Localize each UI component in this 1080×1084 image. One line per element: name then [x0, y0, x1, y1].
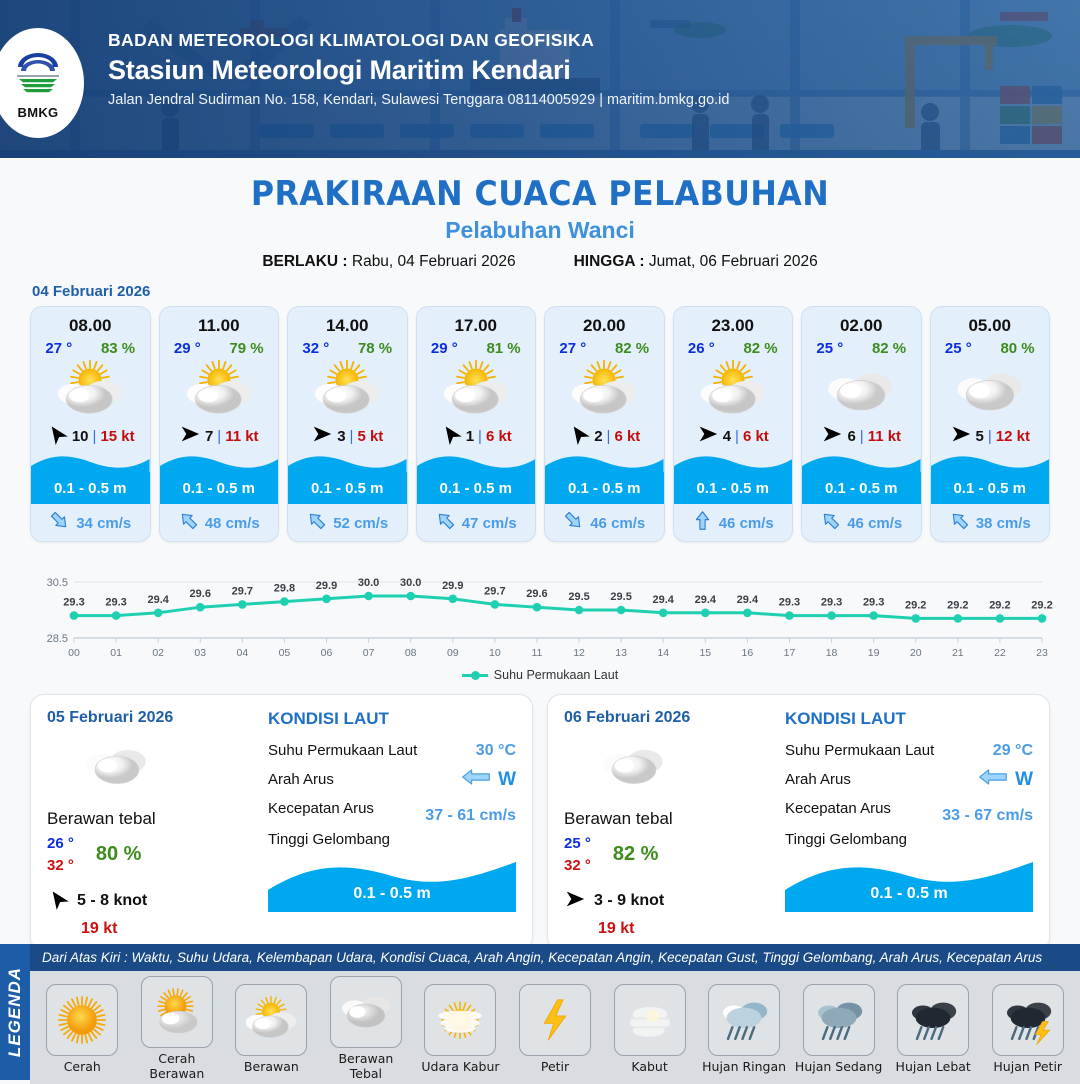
berlaku-value: Rabu, 04 Februari 2026 [352, 253, 516, 270]
daily-humidity: 80 % [96, 843, 142, 866]
current-direction-value: W [498, 769, 516, 791]
current-direction-arrow-icon [563, 510, 584, 536]
wind-direction-arrow-icon [179, 423, 201, 449]
card-wave: 0.1 - 0.5 m [931, 453, 1050, 505]
daily-gust: 19 kt [81, 920, 262, 938]
card-current-speed: 46 cm/s [590, 515, 645, 532]
card-wind-speed: 7 [205, 428, 213, 445]
legend-item: Hujan Ringan [700, 984, 789, 1074]
daily-date: 05 Februari 2026 [47, 709, 262, 727]
wind-separator: | [860, 428, 864, 445]
legend-item-label: Berawan [244, 1059, 299, 1074]
sun-behind-cloud-icon [437, 359, 515, 421]
sun-behind-small-cloud-icon [141, 976, 213, 1048]
daily-humidity: 82 % [613, 843, 659, 866]
card-gust: 11 kt [225, 428, 258, 445]
svg-text:04: 04 [237, 647, 249, 659]
current-speed-value: 37 - 61 cm/s [425, 807, 516, 824]
svg-text:29.2: 29.2 [1031, 599, 1052, 611]
legend-item-label: Cerah Berawan [133, 1051, 222, 1081]
svg-text:08: 08 [405, 647, 417, 659]
wind-direction-arrow-icon [46, 423, 68, 449]
hingga-label: HINGGA : [574, 253, 645, 270]
legend-item-label: Berawan Tebal [322, 1051, 411, 1081]
card-temperature: 25 ° [816, 340, 843, 357]
wind-direction-arrow-icon [568, 423, 590, 449]
legend-item-label: Cerah [64, 1059, 101, 1074]
card-current: 34 cm/s [49, 505, 131, 541]
svg-text:28.5: 28.5 [47, 633, 68, 645]
card-gust: 6 kt [614, 428, 640, 445]
wave-height-value: 0.1 - 0.5 m [785, 885, 1033, 903]
sst-label: Suhu Permukaan Laut [785, 742, 934, 759]
card-current-speed: 52 cm/s [333, 515, 388, 532]
svg-text:29.6: 29.6 [190, 588, 211, 600]
hourly-forecast-row: 08.00 27 ° 83 % 10 | 15 kt [0, 306, 1080, 542]
wind-separator: | [988, 428, 992, 445]
wind-direction-arrow-icon [821, 423, 843, 449]
svg-text:30.0: 30.0 [400, 577, 421, 589]
hingga-value: Jumat, 06 Februari 2026 [649, 253, 818, 270]
card-current-speed: 48 cm/s [205, 515, 260, 532]
wind-direction-arrow-icon [47, 888, 69, 915]
svg-text:19: 19 [868, 647, 880, 659]
svg-text:13: 13 [615, 647, 627, 659]
sun-behind-cloud-icon [694, 359, 772, 421]
wind-separator: | [217, 428, 221, 445]
card-wave-height: 0.1 - 0.5 m [417, 472, 536, 504]
sst-row: Suhu Permukaan Laut 30 °C [268, 736, 516, 765]
card-time: 02.00 [840, 316, 883, 336]
daily-wind-value: 5 - 8 knot [77, 892, 147, 910]
cloud-icon [47, 735, 262, 795]
legend-item-label: Hujan Sedang [795, 1059, 882, 1074]
hourly-card: 08.00 27 ° 83 % 10 | 15 kt [30, 306, 151, 542]
legend-item: Berawan [227, 984, 316, 1074]
legend-note: Dari Atas Kiri : Waktu, Suhu Udara, Kele… [30, 944, 1080, 971]
svg-text:29.3: 29.3 [863, 597, 884, 609]
card-gust: 5 kt [357, 428, 383, 445]
card-temperature: 32 ° [302, 340, 329, 357]
wave-height-row: Tinggi Gelombang [268, 825, 516, 854]
chart-legend: Suhu Permukaan Laut [0, 668, 1080, 682]
card-wind-speed: 4 [723, 428, 731, 445]
current-direction-value-group: W [461, 767, 516, 792]
svg-text:12: 12 [573, 647, 585, 659]
svg-text:29.7: 29.7 [484, 585, 505, 597]
svg-text:29.4: 29.4 [737, 594, 759, 606]
sun-icon [46, 984, 118, 1056]
current-direction-arrow-icon [49, 510, 70, 536]
svg-text:30.5: 30.5 [47, 577, 68, 589]
page-header: BMKG BADAN METEOROLOGI KLIMATOLOGI DAN G… [0, 0, 1080, 158]
card-time: 17.00 [454, 316, 497, 336]
svg-text:14: 14 [657, 647, 669, 659]
svg-text:29.2: 29.2 [989, 599, 1010, 611]
hourly-card: 11.00 29 ° 79 % 7 | 11 kt [159, 306, 280, 542]
daily-forecast-card: 05 Februari 2026 Berawan tebal 26 ° 32 °… [30, 694, 533, 951]
svg-text:07: 07 [363, 647, 375, 659]
card-wave-height: 0.1 - 0.5 m [674, 472, 793, 504]
current-speed-value: 33 - 67 cm/s [942, 807, 1033, 824]
page-title: PRAKIRAAN CUACA PELABUHAN [38, 174, 1042, 214]
card-wave: 0.1 - 0.5 m [160, 453, 279, 505]
card-wind-speed: 1 [466, 428, 474, 445]
card-gust: 6 kt [743, 428, 769, 445]
thunderstorm-icon [992, 984, 1064, 1056]
svg-text:29.3: 29.3 [779, 597, 800, 609]
card-wave: 0.1 - 0.5 m [802, 453, 921, 505]
card-wind-speed: 3 [337, 428, 345, 445]
lightning-icon [519, 984, 591, 1056]
current-direction-row: Arah Arus W [785, 765, 1033, 794]
card-wind-speed: 2 [594, 428, 602, 445]
card-wind-speed: 5 [976, 428, 984, 445]
sst-value: 29 °C [993, 742, 1033, 760]
card-wave-height: 0.1 - 0.5 m [545, 472, 664, 504]
svg-text:17: 17 [784, 647, 796, 659]
card-temperature: 27 ° [45, 340, 72, 357]
legend-item-label: Hujan Ringan [702, 1059, 786, 1074]
card-humidity: 80 % [1000, 340, 1034, 357]
svg-text:29.8: 29.8 [274, 583, 295, 595]
validity-row: BERLAKU : Rabu, 04 Februari 2026 HINGGA … [0, 253, 1080, 271]
wind-separator: | [93, 428, 97, 445]
daily-forecast-row: 05 Februari 2026 Berawan tebal 26 ° 32 °… [0, 682, 1080, 951]
legend-items: Cerah Cerah Berawan Berawan [30, 971, 1080, 1084]
card-time: 08.00 [69, 316, 112, 336]
svg-text:29.9: 29.9 [316, 580, 337, 592]
wind-separator: | [735, 428, 739, 445]
daily-left: 05 Februari 2026 Berawan tebal 26 ° 32 °… [47, 709, 262, 938]
sst-value: 30 °C [476, 742, 516, 760]
card-gust: 11 kt [868, 428, 901, 445]
legend-item: Petir [511, 984, 600, 1074]
daily-forecast-card: 06 Februari 2026 Berawan tebal 25 ° 32 °… [547, 694, 1050, 951]
current-speed-label: Kecepatan Arus [785, 800, 891, 817]
card-time: 14.00 [326, 316, 369, 336]
card-time: 20.00 [583, 316, 626, 336]
sea-conditions-title: KONDISI LAUT [268, 709, 516, 729]
legend-item: Berawan Tebal [322, 976, 411, 1081]
current-direction-arrow-icon [461, 767, 491, 792]
cloud-icon [951, 359, 1029, 421]
current-speed-label: Kecepatan Arus [268, 800, 374, 817]
header-text-block: BADAN METEOROLOGI KLIMATOLOGI DAN GEOFIS… [108, 30, 729, 108]
svg-text:02: 02 [152, 647, 164, 659]
legend-item-label: Hujan Petir [993, 1059, 1062, 1074]
daily-left: 06 Februari 2026 Berawan tebal 25 ° 32 °… [564, 709, 779, 938]
hourly-card: 20.00 27 ° 82 % 2 | 6 kt [544, 306, 665, 542]
svg-text:29.7: 29.7 [232, 585, 253, 597]
daily-date: 06 Februari 2026 [564, 709, 779, 727]
daily-wind: 3 - 9 knot [564, 888, 779, 915]
svg-text:15: 15 [699, 647, 711, 659]
card-humidity: 82 % [872, 340, 906, 357]
legend-item: Hujan Lebat [889, 984, 978, 1074]
legend-main: Dari Atas Kiri : Waktu, Suhu Udara, Kele… [30, 944, 1080, 1080]
card-time: 23.00 [711, 316, 754, 336]
card-current-speed: 46 cm/s [719, 515, 774, 532]
clouds-icon [330, 976, 402, 1048]
current-direction-arrow-icon [978, 767, 1008, 792]
svg-text:05: 05 [279, 647, 291, 659]
legend-item-label: Udara Kabur [421, 1059, 499, 1074]
card-wind: 6 | 11 kt [821, 423, 901, 449]
current-direction-label: Arah Arus [785, 771, 851, 788]
current-direction-arrow-icon [820, 510, 841, 536]
berlaku-group: BERLAKU : Rabu, 04 Februari 2026 [262, 253, 515, 271]
berlaku-label: BERLAKU : [262, 253, 347, 270]
haze-icon [424, 984, 496, 1056]
card-current: 46 cm/s [692, 505, 774, 541]
wind-direction-arrow-icon [564, 888, 586, 915]
station-name: Stasiun Meteorologi Maritim Kendari [108, 55, 729, 86]
wind-direction-arrow-icon [697, 423, 719, 449]
card-current-speed: 34 cm/s [76, 515, 131, 532]
svg-text:16: 16 [742, 647, 754, 659]
svg-text:06: 06 [321, 647, 333, 659]
card-wind: 3 | 5 kt [311, 423, 383, 449]
svg-text:29.3: 29.3 [821, 597, 842, 609]
svg-text:18: 18 [826, 647, 838, 659]
svg-text:29.9: 29.9 [442, 580, 463, 592]
card-temperature: 27 ° [559, 340, 586, 357]
chart-legend-label: Suhu Permukaan Laut [494, 668, 618, 682]
legend-item: Hujan Sedang [794, 984, 883, 1074]
hourly-card: 14.00 32 ° 78 % 3 | 5 kt [287, 306, 408, 542]
moderate-rain-icon [803, 984, 875, 1056]
card-wave: 0.1 - 0.5 m [417, 453, 536, 505]
daily-wind-value: 3 - 9 knot [594, 892, 664, 910]
svg-text:03: 03 [194, 647, 206, 659]
card-current: 46 cm/s [563, 505, 645, 541]
card-time: 05.00 [968, 316, 1011, 336]
wind-separator: | [607, 428, 611, 445]
legend-item: Cerah Berawan [133, 976, 222, 1081]
current-direction-arrow-icon [949, 510, 970, 536]
card-current-speed: 38 cm/s [976, 515, 1031, 532]
organization-name: BADAN METEOROLOGI KLIMATOLOGI DAN GEOFIS… [108, 30, 729, 51]
legend-item-label: Petir [541, 1059, 569, 1074]
card-wind: 4 | 6 kt [697, 423, 769, 449]
wind-direction-arrow-icon [950, 423, 972, 449]
card-wind: 2 | 6 kt [568, 423, 640, 449]
daily-sea-conditions: KONDISI LAUT Suhu Permukaan Laut 29 °C A… [779, 709, 1033, 938]
daily-temp-max: 32 ° [564, 855, 591, 877]
card-wave-height: 0.1 - 0.5 m [288, 472, 407, 504]
card-current: 46 cm/s [820, 505, 902, 541]
svg-text:10: 10 [489, 647, 501, 659]
wave-height-row: Tinggi Gelombang [785, 825, 1033, 854]
daily-temp-min: 26 ° [47, 833, 74, 855]
svg-text:20: 20 [910, 647, 922, 659]
card-current: 52 cm/s [306, 505, 388, 541]
card-wind: 7 | 11 kt [179, 423, 259, 449]
legend-item-label: Kabut [631, 1059, 667, 1074]
chart-legend-swatch [462, 674, 488, 677]
card-wind-speed: 6 [847, 428, 855, 445]
card-wave-height: 0.1 - 0.5 m [31, 472, 150, 504]
svg-text:01: 01 [110, 647, 122, 659]
card-wave: 0.1 - 0.5 m [545, 453, 664, 505]
card-current: 48 cm/s [178, 505, 260, 541]
legend-item: Kabut [605, 984, 694, 1074]
current-direction-arrow-icon [306, 510, 327, 536]
svg-text:29.5: 29.5 [610, 591, 631, 603]
hourly-date-label: 04 Februari 2026 [32, 283, 1080, 300]
sst-row: Suhu Permukaan Laut 29 °C [785, 736, 1033, 765]
legend-item: Cerah [38, 984, 127, 1074]
svg-text:30.0: 30.0 [358, 577, 379, 589]
current-direction-label: Arah Arus [268, 771, 334, 788]
svg-text:09: 09 [447, 647, 459, 659]
card-wave-height: 0.1 - 0.5 m [802, 472, 921, 504]
sun-behind-cloud-icon [51, 359, 129, 421]
svg-text:00: 00 [68, 647, 80, 659]
svg-text:29.4: 29.4 [653, 594, 675, 606]
legend-band: LEGENDA [0, 944, 30, 1080]
svg-text:29.4: 29.4 [147, 594, 169, 606]
card-gust: 15 kt [100, 428, 134, 445]
wave-height-graphic: 0.1 - 0.5 m [785, 856, 1033, 912]
hourly-card: 05.00 25 ° 80 % 5 | 12 kt 0.1 - 0.5 m [930, 306, 1051, 542]
sst-chart: 30.528.500010203040506070809101112131415… [26, 556, 1054, 664]
wave-height-value: 0.1 - 0.5 m [268, 885, 516, 903]
wave-height-graphic: 0.1 - 0.5 m [268, 856, 516, 912]
station-address: Jalan Jendral Sudirman No. 158, Kendari,… [108, 92, 729, 108]
wind-direction-arrow-icon [440, 423, 462, 449]
card-current-speed: 46 cm/s [847, 515, 902, 532]
daily-condition: Berawan tebal [564, 809, 779, 829]
current-direction-arrow-icon [435, 510, 456, 536]
bmkg-logo-mark [10, 48, 66, 104]
card-current: 47 cm/s [435, 505, 517, 541]
card-humidity: 82 % [743, 340, 777, 357]
page-subtitle: Pelabuhan Wanci [0, 217, 1080, 244]
sun-behind-cloud-icon [308, 359, 386, 421]
svg-text:29.3: 29.3 [105, 597, 126, 609]
svg-text:21: 21 [952, 647, 964, 659]
card-current: 38 cm/s [949, 505, 1031, 541]
card-wave: 0.1 - 0.5 m [31, 453, 150, 505]
legend-item: Hujan Petir [983, 984, 1072, 1074]
current-direction-value: W [1015, 769, 1033, 791]
wind-separator: | [478, 428, 482, 445]
legend-item-label: Hujan Lebat [896, 1059, 971, 1074]
sun-behind-cloud-icon [235, 984, 307, 1056]
wave-height-label: Tinggi Gelombang [785, 831, 907, 848]
hourly-card: 02.00 25 ° 82 % 6 | 11 kt 0.1 - 0.5 m [801, 306, 922, 542]
hingga-group: HINGGA : Jumat, 06 Februari 2026 [574, 253, 818, 271]
current-direction-value-group: W [978, 767, 1033, 792]
card-wind: 1 | 6 kt [440, 423, 512, 449]
wind-separator: | [350, 428, 354, 445]
card-wind-speed: 10 [72, 428, 89, 445]
wind-direction-arrow-icon [311, 423, 333, 449]
daily-sea-conditions: KONDISI LAUT Suhu Permukaan Laut 30 °C A… [262, 709, 516, 938]
card-humidity: 79 % [229, 340, 263, 357]
current-direction-arrow-icon [692, 510, 713, 536]
card-wave-height: 0.1 - 0.5 m [160, 472, 279, 504]
card-humidity: 78 % [358, 340, 392, 357]
svg-text:29.3: 29.3 [63, 597, 84, 609]
fog-icon [614, 984, 686, 1056]
sun-behind-cloud-icon [180, 359, 258, 421]
hourly-card: 17.00 29 ° 81 % 1 | 6 kt [416, 306, 537, 542]
sea-conditions-title: KONDISI LAUT [785, 709, 1033, 729]
card-wave: 0.1 - 0.5 m [674, 453, 793, 505]
light-rain-icon [708, 984, 780, 1056]
daily-temps: 26 ° 32 ° 80 % [47, 833, 262, 877]
card-time: 11.00 [198, 316, 240, 336]
daily-condition: Berawan tebal [47, 809, 262, 829]
card-temperature: 29 ° [431, 340, 458, 357]
hourly-card: 23.00 26 ° 82 % 4 | 6 kt [673, 306, 794, 542]
card-gust: 6 kt [486, 428, 512, 445]
card-wave-height: 0.1 - 0.5 m [931, 472, 1050, 504]
bmkg-logo-text: BMKG [18, 105, 59, 120]
card-temperature: 26 ° [688, 340, 715, 357]
legend-section: LEGENDA Dari Atas Kiri : Waktu, Suhu Uda… [0, 944, 1080, 1080]
daily-temp-range: 25 ° 32 ° [564, 833, 591, 877]
card-humidity: 81 % [486, 340, 520, 357]
card-wave: 0.1 - 0.5 m [288, 453, 407, 505]
daily-temp-max: 32 ° [47, 855, 74, 877]
card-gust: 12 kt [996, 428, 1030, 445]
wave-height-label: Tinggi Gelombang [268, 831, 390, 848]
sst-label: Suhu Permukaan Laut [268, 742, 417, 759]
sun-behind-cloud-icon [565, 359, 643, 421]
current-direction-row: Arah Arus W [268, 765, 516, 794]
cloud-icon [822, 359, 900, 421]
card-temperature: 29 ° [174, 340, 201, 357]
svg-text:29.2: 29.2 [947, 599, 968, 611]
svg-text:11: 11 [532, 647, 543, 659]
legend-item: Udara Kabur [416, 984, 505, 1074]
cloud-icon [564, 735, 779, 795]
svg-text:29.6: 29.6 [526, 588, 547, 600]
svg-text:29.4: 29.4 [695, 594, 717, 606]
heavy-rain-icon [897, 984, 969, 1056]
daily-temps: 25 ° 32 ° 82 % [564, 833, 779, 877]
daily-temp-range: 26 ° 32 ° [47, 833, 74, 877]
current-direction-arrow-icon [178, 510, 199, 536]
card-humidity: 82 % [615, 340, 649, 357]
svg-text:22: 22 [994, 647, 1006, 659]
card-humidity: 83 % [101, 340, 135, 357]
daily-temp-min: 25 ° [564, 833, 591, 855]
card-current-speed: 47 cm/s [462, 515, 517, 532]
daily-wind: 5 - 8 knot [47, 888, 262, 915]
card-wind: 5 | 12 kt [950, 423, 1030, 449]
legend-band-label: LEGENDA [5, 967, 25, 1057]
svg-text:23: 23 [1036, 647, 1048, 659]
svg-text:29.5: 29.5 [568, 591, 589, 603]
card-wind: 10 | 15 kt [46, 423, 135, 449]
daily-gust: 19 kt [598, 920, 779, 938]
card-temperature: 25 ° [945, 340, 972, 357]
svg-text:29.2: 29.2 [905, 599, 926, 611]
